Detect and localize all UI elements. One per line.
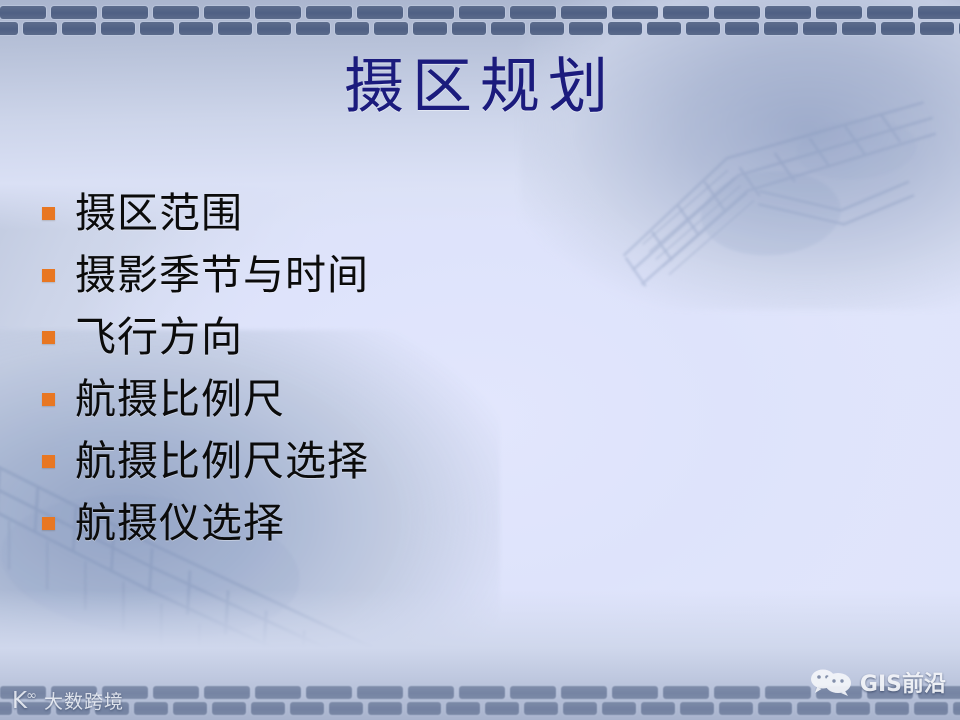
list-item-label: 航摄仪选择: [75, 503, 285, 544]
list-item[interactable]: 摄影季节与时间: [42, 244, 642, 306]
list-item-label: 飞行方向: [75, 317, 243, 358]
bullet-square-icon: [42, 331, 55, 344]
watermark-bottom-left-label: 大数跨境: [44, 687, 124, 714]
list-item-label: 摄影季节与时间: [75, 255, 369, 296]
presentation-slide: 摄区规划 摄区范围 摄影季节与时间 飞行方向 航摄比例尺 航摄比例尺选择 航摄仪…: [0, 0, 960, 720]
k-infinity-logo-icon: K∞: [12, 688, 36, 714]
logo-letter: K: [12, 688, 26, 714]
list-item-label: 航摄比例尺选择: [75, 441, 369, 482]
watermark-bottom-right-label: GIS前沿: [860, 666, 946, 698]
brick-row-lower: [0, 22, 960, 35]
slide-title: 摄区规划: [0, 56, 960, 119]
list-item[interactable]: 航摄比例尺选择: [42, 430, 642, 492]
bullet-square-icon: [42, 393, 55, 406]
top-brick-border: [0, 0, 960, 42]
bullet-square-icon: [42, 455, 55, 468]
list-item[interactable]: 航摄仪选择: [42, 492, 642, 554]
watermark-bottom-right: GIS前沿: [808, 666, 946, 698]
logo-superscript: ∞: [26, 688, 36, 703]
list-item[interactable]: 摄区范围: [42, 182, 642, 244]
watermark-bottom-left: K∞ 大数跨境: [12, 687, 124, 714]
bullet-square-icon: [42, 207, 55, 220]
wechat-icon: [808, 668, 854, 696]
list-item[interactable]: 飞行方向: [42, 306, 642, 368]
bullet-square-icon: [42, 517, 55, 530]
brick-row-lower: [0, 702, 960, 715]
list-item-label: 摄区范围: [75, 193, 243, 234]
brick-row-upper: [0, 6, 960, 19]
bullet-square-icon: [42, 269, 55, 282]
list-item[interactable]: 航摄比例尺: [42, 368, 642, 430]
bullet-list: 摄区范围 摄影季节与时间 飞行方向 航摄比例尺 航摄比例尺选择 航摄仪选择: [42, 182, 642, 554]
list-item-label: 航摄比例尺: [75, 379, 285, 420]
